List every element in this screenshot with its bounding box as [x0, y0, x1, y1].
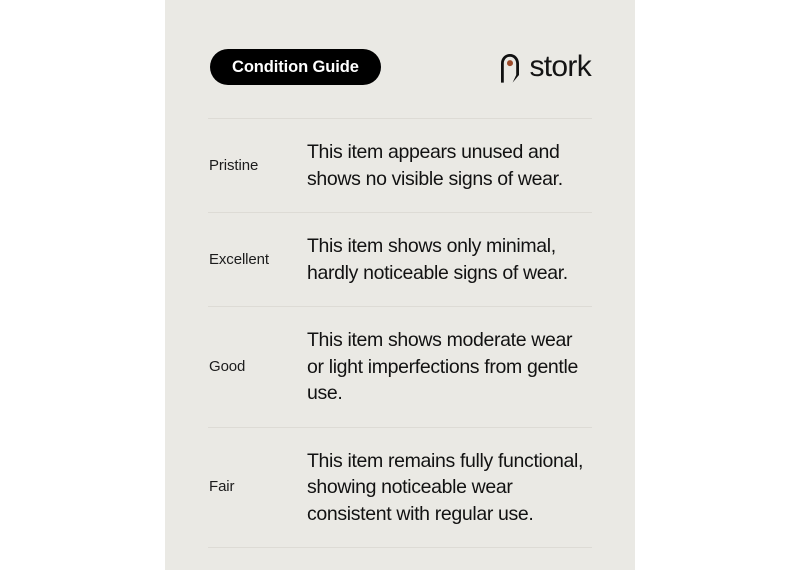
condition-guide-card: Condition Guide stork Pristine This item… [165, 0, 635, 570]
condition-description: This item appears unused and shows no vi… [307, 139, 592, 192]
condition-description: This item remains fully functional, show… [307, 448, 592, 528]
card-header: Condition Guide stork [165, 0, 635, 118]
condition-description: This item shows only minimal, hardly not… [307, 233, 592, 286]
condition-label: Fair [208, 478, 307, 496]
table-row: Fair This item remains fully functional,… [208, 427, 592, 549]
stork-arch-logo-icon [498, 52, 522, 83]
condition-label: Excellent [208, 251, 307, 269]
condition-label: Pristine [208, 157, 307, 175]
brand-logo[interactable]: stork [498, 52, 591, 83]
condition-description: This item shows moderate wear or light i… [307, 327, 592, 407]
brand-wordmark: stork [529, 52, 591, 82]
table-row: Excellent This item shows only minimal, … [208, 212, 592, 306]
screen: Condition Guide stork Pristine This item… [0, 0, 800, 570]
table-row: Pristine This item appears unused and sh… [208, 118, 592, 212]
condition-guide-table: Pristine This item appears unused and sh… [208, 118, 592, 548]
condition-label: Good [208, 358, 307, 376]
condition-guide-badge[interactable]: Condition Guide [210, 49, 381, 85]
table-row: Good This item shows moderate wear or li… [208, 306, 592, 427]
